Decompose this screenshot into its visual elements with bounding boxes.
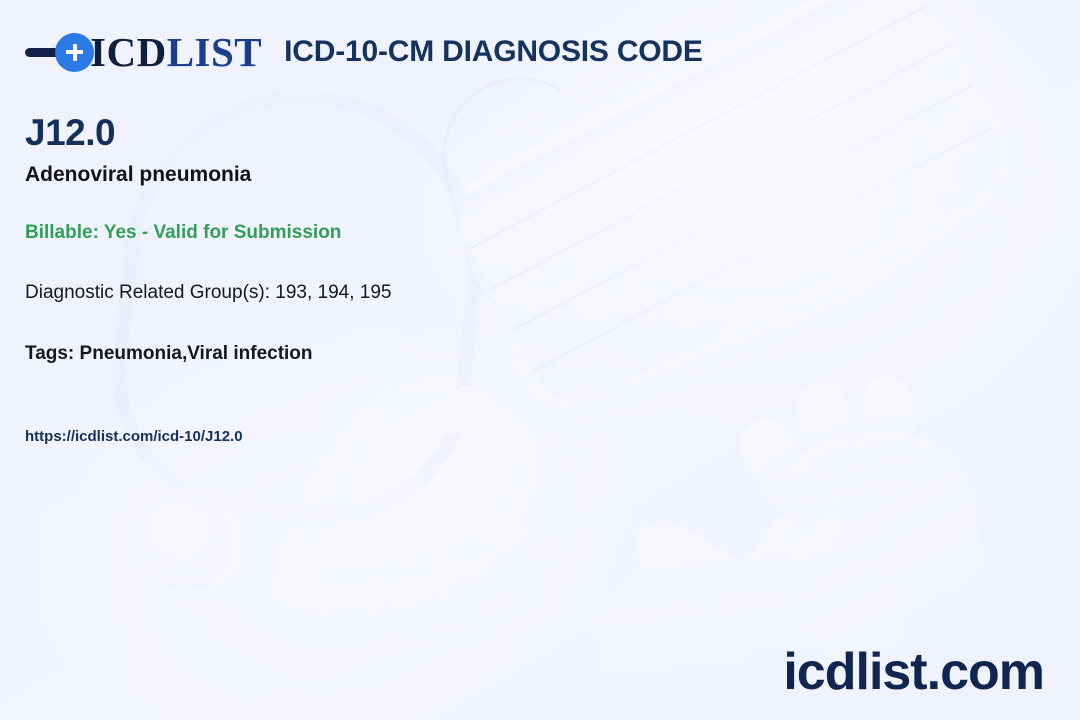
finger-shape bbox=[730, 409, 840, 538]
icdlist-logo[interactable]: ICDLIST bbox=[25, 26, 262, 78]
billable-status: Billable: Yes - Valid for Submission bbox=[25, 222, 645, 245]
source-url[interactable]: https://icdlist.com/icd-10/J12.0 bbox=[25, 428, 645, 446]
heart-icon bbox=[662, 452, 813, 603]
footer-brand: icdlist.com bbox=[783, 646, 1044, 698]
diagnosis-code: J12.0 bbox=[25, 112, 645, 153]
logo-text-list: LIST bbox=[167, 29, 262, 75]
hand-shape bbox=[768, 413, 1002, 677]
plus-icon-vertical-bar bbox=[73, 44, 77, 61]
plus-icon bbox=[55, 33, 94, 72]
diagnostic-related-groups: Diagnostic Related Group(s): 193, 194, 1… bbox=[25, 282, 645, 305]
page-title: ICD-10-CM DIAGNOSIS CODE bbox=[284, 35, 703, 69]
diagnosis-description: Adenoviral pneumonia bbox=[25, 162, 645, 188]
icd-code-card: ICDLIST ICD-10-CM DIAGNOSIS CODE J12.0 A… bbox=[0, 0, 1080, 720]
stethoscope-chestpiece-shape bbox=[138, 495, 234, 591]
finger-shape bbox=[859, 375, 919, 498]
code-details: J12.0 Adenoviral pneumonia Billable: Yes… bbox=[25, 112, 645, 446]
finger-shape bbox=[788, 375, 878, 506]
page-header: ICDLIST ICD-10-CM DIAGNOSIS CODE bbox=[25, 26, 1055, 78]
tags-list: Tags: Pneumonia,Viral infection bbox=[25, 343, 645, 366]
logo-wordmark: ICDLIST bbox=[90, 32, 262, 73]
heart-icon bbox=[420, 470, 476, 526]
logo-text-icd: ICD bbox=[90, 29, 167, 75]
